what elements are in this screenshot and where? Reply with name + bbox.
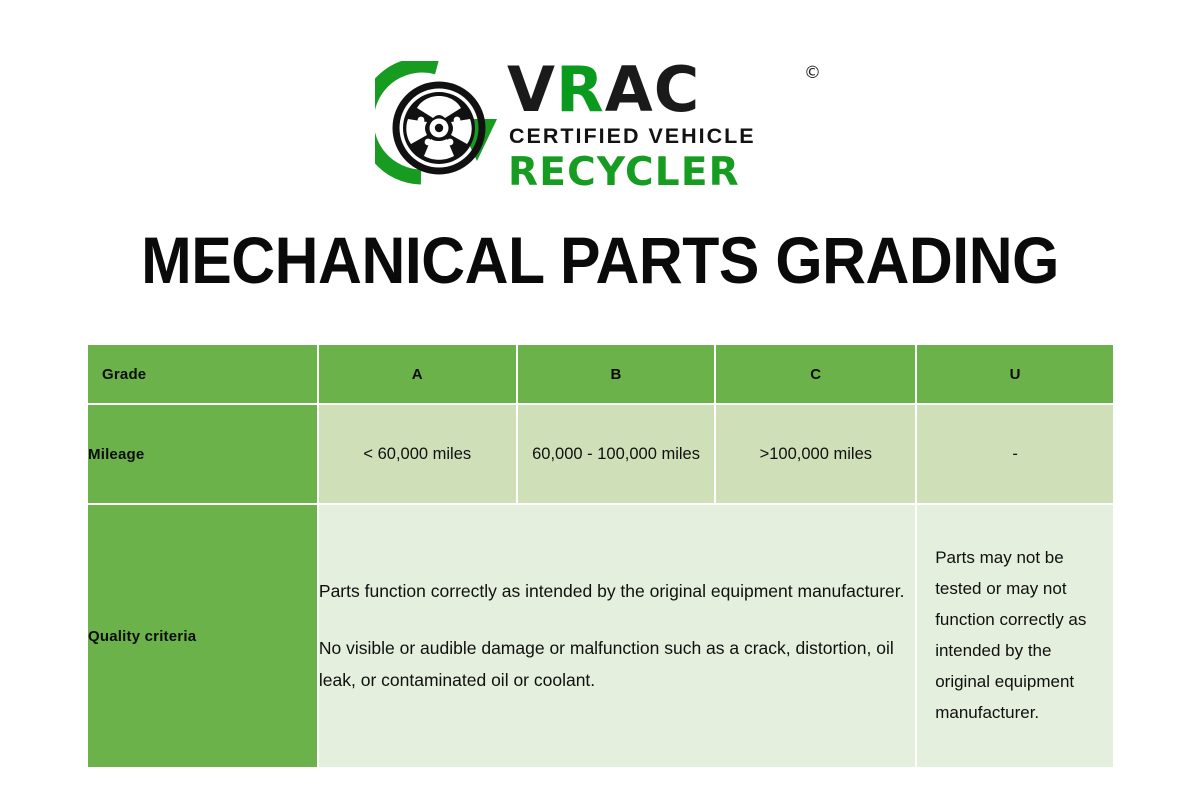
table-header-row: Grade A B C U (88, 345, 1113, 403)
row-label-mileage: Mileage (88, 405, 317, 503)
logo-vrac-word: VRAC (507, 59, 700, 121)
logo-letter-v: V (507, 53, 556, 126)
mileage-cell-a: < 60,000 miles (319, 405, 516, 503)
mileage-cell-u: - (917, 405, 1113, 503)
criteria-paragraph-2: No visible or audible damage or malfunct… (319, 633, 915, 695)
recycling-wheel-icon (375, 61, 507, 189)
header-cell-c: C (716, 345, 915, 403)
vrac-logo: VRAC © CERTIFIED VEHICLE RECYCLER (375, 55, 835, 200)
logo-letter-r: R (556, 53, 605, 126)
header-cell-u: U (917, 345, 1113, 403)
mechanical-parts-grading-table: Grade A B C U Mileage < 60,000 miles 60,… (86, 343, 1115, 769)
criteria-cell-abc: Parts function correctly as intended by … (319, 505, 915, 767)
table-row-quality-criteria: Quality criteria Parts function correctl… (88, 505, 1113, 767)
table-row-mileage: Mileage < 60,000 miles 60,000 - 100,000 … (88, 405, 1113, 503)
copyright-icon: © (804, 63, 821, 83)
row-label-quality-criteria: Quality criteria (88, 505, 317, 767)
criteria-paragraph-1: Parts function correctly as intended by … (319, 576, 915, 607)
header-cell-grade: Grade (88, 345, 317, 403)
page-title: MECHANICAL PARTS GRADING (48, 222, 1152, 298)
logo-letters-ac: AC (605, 53, 700, 126)
logo-recycler-word: RECYCLER (508, 150, 740, 195)
mileage-cell-c: >100,000 miles (716, 405, 915, 503)
logo-subtitle: CERTIFIED VEHICLE (509, 124, 756, 149)
header-cell-b: B (518, 345, 715, 403)
logo-wordmark: VRAC © CERTIFIED VEHICLE RECYCLER (507, 55, 837, 195)
header-cell-a: A (319, 345, 516, 403)
criteria-cell-u: Parts may not be tested or may not funct… (917, 505, 1113, 767)
mileage-cell-b: 60,000 - 100,000 miles (518, 405, 715, 503)
